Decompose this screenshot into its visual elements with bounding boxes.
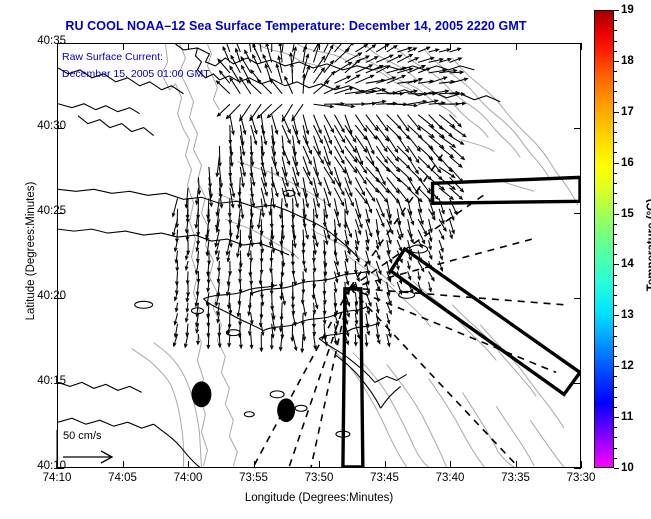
- y-tick-mark-right: [574, 128, 581, 129]
- current-vector: [334, 146, 344, 163]
- current-vector: [418, 115, 433, 128]
- current-vector: [345, 177, 352, 196]
- colorbar-minor-tick: [614, 122, 617, 123]
- current-vector: [225, 44, 230, 52]
- y-tick-mark-right: [574, 213, 581, 214]
- current-vector: [253, 55, 261, 73]
- current-vector: [280, 44, 282, 62]
- colorbar-minor-tick: [614, 407, 617, 408]
- current-vector: [355, 156, 366, 173]
- current-vector: [303, 115, 308, 134]
- current-vector: [439, 115, 455, 127]
- current-vector: [324, 61, 333, 73]
- colorbar-minor-tick: [614, 356, 617, 357]
- current-vector: [355, 45, 367, 52]
- figure-canvas: RU COOL NOAA–12 Sea Surface Temperature:…: [0, 0, 651, 519]
- current-vector: [450, 125, 466, 137]
- current-vector: [376, 167, 385, 185]
- current-vector: [217, 81, 230, 94]
- annotation-line-1: Raw Surface Current:: [62, 51, 163, 63]
- y-tick-40-35: 40:35: [37, 35, 66, 47]
- current-vector: [266, 44, 271, 62]
- current-vector: [303, 136, 311, 154]
- x-tick-mark-top: [188, 43, 189, 50]
- y-tick-mark-right: [574, 43, 581, 44]
- x-tick-73-40: 73:40: [420, 472, 480, 484]
- colorbar-tick-13: [614, 315, 619, 316]
- x-tick-mark-top: [385, 43, 386, 50]
- colorbar-minor-tick: [614, 51, 617, 52]
- colorbar-minor-tick: [614, 387, 617, 388]
- y-tick-40-20: 40:20: [37, 290, 66, 302]
- current-vector: [249, 44, 251, 52]
- colorbar-minor-tick: [614, 224, 617, 225]
- current-vector: [366, 136, 374, 154]
- y-tick-mark-right: [574, 298, 581, 299]
- colorbar-tick-17: [614, 112, 619, 113]
- colorbar-tick-18: [614, 61, 619, 62]
- current-vector: [366, 188, 375, 201]
- station-marker-west[interactable]: [191, 381, 211, 407]
- y-tick-mark: [57, 128, 64, 129]
- colorbar-label-16: 16: [621, 157, 634, 169]
- current-vector: [376, 44, 389, 52]
- x-tick-mark-top: [57, 43, 58, 50]
- x-tick-mark-top: [581, 43, 582, 50]
- current-vector: [376, 115, 388, 131]
- y-tick-mark: [57, 43, 64, 44]
- colorbar-minor-tick: [614, 305, 617, 306]
- y-tick-40-25: 40:25: [37, 205, 66, 217]
- current-vector: [314, 115, 321, 133]
- current-vector: [251, 115, 257, 134]
- x-axis-label: Longitude (Degrees:Minutes): [57, 492, 581, 504]
- colorbar-tick-11: [614, 417, 619, 418]
- current-vector: [270, 78, 282, 94]
- current-vector: [408, 177, 418, 194]
- y-tick-40-15: 40:15: [37, 375, 66, 387]
- colorbar-label-14: 14: [621, 258, 634, 270]
- x-tick-mark-top: [123, 43, 124, 50]
- colorbar-minor-tick: [614, 71, 617, 72]
- x-tick-mark-top: [450, 43, 451, 50]
- x-tick-mark-top: [254, 43, 255, 50]
- x-tick-74-00: 74:00: [158, 472, 218, 484]
- y-tick-mark: [57, 213, 64, 214]
- colorbar-label-13: 13: [621, 309, 634, 321]
- y-tick-mark-right: [574, 383, 581, 384]
- current-vector: [408, 115, 421, 130]
- current-vector: [355, 115, 366, 132]
- x-tick-mark: [516, 461, 517, 468]
- colorbar-minor-tick: [614, 346, 617, 347]
- colorbar-minor-tick: [614, 448, 617, 449]
- colorbar-tick-19: [614, 10, 619, 11]
- current-vector: [293, 188, 298, 207]
- current-vector: [376, 188, 387, 202]
- current-vector: [220, 71, 230, 83]
- y-tick-mark-right: [574, 468, 581, 469]
- colorbar-tick-16: [614, 163, 619, 164]
- colorbar-minor-tick: [614, 275, 617, 276]
- colorbar-minor-tick: [614, 173, 617, 174]
- current-vector: [282, 125, 290, 143]
- y-tick-40-30: 40:30: [37, 120, 66, 132]
- annotation-line-2: December 15, 2005 01:00 GMT: [62, 68, 210, 80]
- current-vector: [418, 156, 430, 168]
- x-tick-mark: [450, 461, 451, 468]
- x-tick-mark: [254, 461, 255, 468]
- plot-axes[interactable]: [57, 43, 581, 468]
- colorbar-minor-tick: [614, 41, 617, 42]
- colorbar-minor-tick: [614, 427, 617, 428]
- current-vector: [387, 136, 398, 153]
- y-tick-mark: [57, 383, 64, 384]
- x-tick-73-30: 73:30: [551, 472, 611, 484]
- colorbar-label-17: 17: [621, 106, 634, 118]
- colorbar-label-18: 18: [621, 55, 634, 67]
- colorbar-label-19: 19: [621, 4, 634, 16]
- current-vector: [334, 115, 344, 132]
- current-vector: [324, 125, 331, 144]
- colorbar-minor-tick: [614, 326, 617, 327]
- colorbar-minor-tick: [614, 254, 617, 255]
- colorbar-minor-tick: [614, 20, 617, 21]
- current-vector: [260, 44, 261, 52]
- x-tick-mark-top: [516, 43, 517, 50]
- current-vector: [173, 198, 178, 216]
- current-vector: [240, 198, 242, 218]
- x-tick-mark: [319, 461, 320, 468]
- colorbar-minor-tick: [614, 234, 617, 235]
- x-tick-73-35: 73:35: [486, 472, 546, 484]
- colorbar-title: Temperature (°C): [646, 165, 651, 325]
- current-vector: [450, 156, 462, 167]
- velocity-scale-arrow: [33, 430, 143, 470]
- radar-bearing-rays: [253, 151, 564, 467]
- colorbar-tick-15: [614, 214, 619, 215]
- y-tick-mark: [57, 298, 64, 299]
- colorbar-minor-tick: [614, 376, 617, 377]
- colorbar-label-11: 11: [621, 411, 633, 423]
- current-vector: [376, 198, 384, 216]
- colorbar-minor-tick: [614, 132, 617, 133]
- current-vector: [397, 156, 410, 168]
- colorbar-minor-tick: [614, 458, 617, 459]
- current-vector: [439, 156, 452, 171]
- x-tick-mark: [581, 461, 582, 468]
- current-vector: [282, 44, 284, 52]
- x-tick-mark: [188, 461, 189, 468]
- colorbar-minor-tick: [614, 102, 617, 103]
- current-vector: [282, 115, 290, 133]
- colorbar-label-12: 12: [621, 360, 634, 372]
- current-vector: [226, 104, 240, 118]
- colorbar-minor-tick: [614, 142, 617, 143]
- colorbar-label-10: 10: [621, 462, 634, 474]
- colorbar-minor-tick: [614, 437, 617, 438]
- page-title: RU COOL NOAA–12 Sea Surface Temperature:…: [0, 19, 592, 33]
- radar-station-markers: [191, 381, 295, 422]
- current-vector: [218, 104, 230, 116]
- colorbar-tick-12: [614, 366, 619, 367]
- x-tick-mark: [385, 461, 386, 468]
- current-vector: [345, 167, 351, 184]
- x-tick-73-55: 73:55: [224, 472, 284, 484]
- current-vector: [355, 177, 364, 195]
- current-vector: [345, 136, 356, 153]
- colorbar-label-15: 15: [621, 208, 634, 220]
- current-vector: [219, 146, 220, 166]
- colorbar-minor-tick: [614, 91, 617, 92]
- colorbar[interactable]: [594, 10, 614, 468]
- current-vector: [251, 156, 252, 176]
- current-vector: [314, 81, 329, 94]
- x-tick-74-05: 74:05: [93, 472, 153, 484]
- colorbar-minor-tick: [614, 81, 617, 82]
- current-vector: [355, 188, 367, 204]
- current-vector: [334, 177, 344, 194]
- colorbar-minor-tick: [614, 285, 617, 286]
- colorbar-minor-tick: [614, 203, 617, 204]
- colorbar-tick-10: [614, 468, 619, 469]
- colorbar-minor-tick: [614, 397, 617, 398]
- current-vector: [258, 80, 272, 94]
- station-marker-east[interactable]: [277, 398, 295, 422]
- x-tick-73-45: 73:45: [355, 472, 415, 484]
- colorbar-minor-tick: [614, 152, 617, 153]
- colorbar-minor-tick: [614, 183, 617, 184]
- colorbar-minor-tick: [614, 295, 617, 296]
- map-plot-area: [58, 44, 580, 467]
- x-tick-mark-top: [319, 43, 320, 50]
- y-axis-label: Latitude (Degrees:Minutes): [25, 151, 37, 351]
- colorbar-tick-14: [614, 264, 619, 265]
- colorbar-minor-tick: [614, 336, 617, 337]
- colorbar-minor-tick: [614, 193, 617, 194]
- current-vector: [345, 125, 356, 142]
- colorbar-minor-tick: [614, 244, 617, 245]
- colorbar-minor-tick: [614, 30, 617, 31]
- x-tick-74-10: 74:10: [27, 472, 87, 484]
- current-vector: [272, 156, 279, 175]
- x-tick-73-50: 73:50: [289, 472, 349, 484]
- current-vector: [376, 209, 384, 227]
